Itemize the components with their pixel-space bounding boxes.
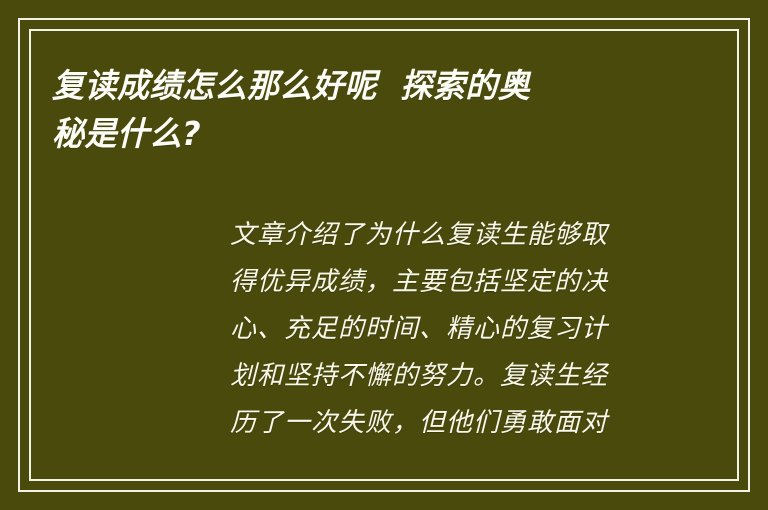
- page-title: 复读成绩怎么那么好呢 探索的奥 秘是什么?: [52, 62, 652, 158]
- body-line-4: 划和坚持不懈的努力。复读生经: [230, 353, 650, 400]
- body-line-2: 得优异成绩，主要包括坚定的决: [230, 259, 650, 306]
- body-line-5: 历了一次失败，但他们勇敢面对: [230, 400, 650, 447]
- body-paragraph: 文章介绍了为什么复读生能够取 得优异成绩，主要包括坚定的决 心、充足的时间、精心…: [230, 212, 650, 447]
- body-line-3: 心、充足的时间、精心的复习计: [230, 306, 650, 353]
- poster-canvas: 复读成绩怎么那么好呢 探索的奥 秘是什么? 文章介绍了为什么复读生能够取 得优异…: [0, 0, 768, 510]
- body-line-1: 文章介绍了为什么复读生能够取: [230, 212, 650, 259]
- title-line-2: 秘是什么?: [52, 110, 634, 158]
- title-line-1: 复读成绩怎么那么好呢 探索的奥: [52, 62, 634, 110]
